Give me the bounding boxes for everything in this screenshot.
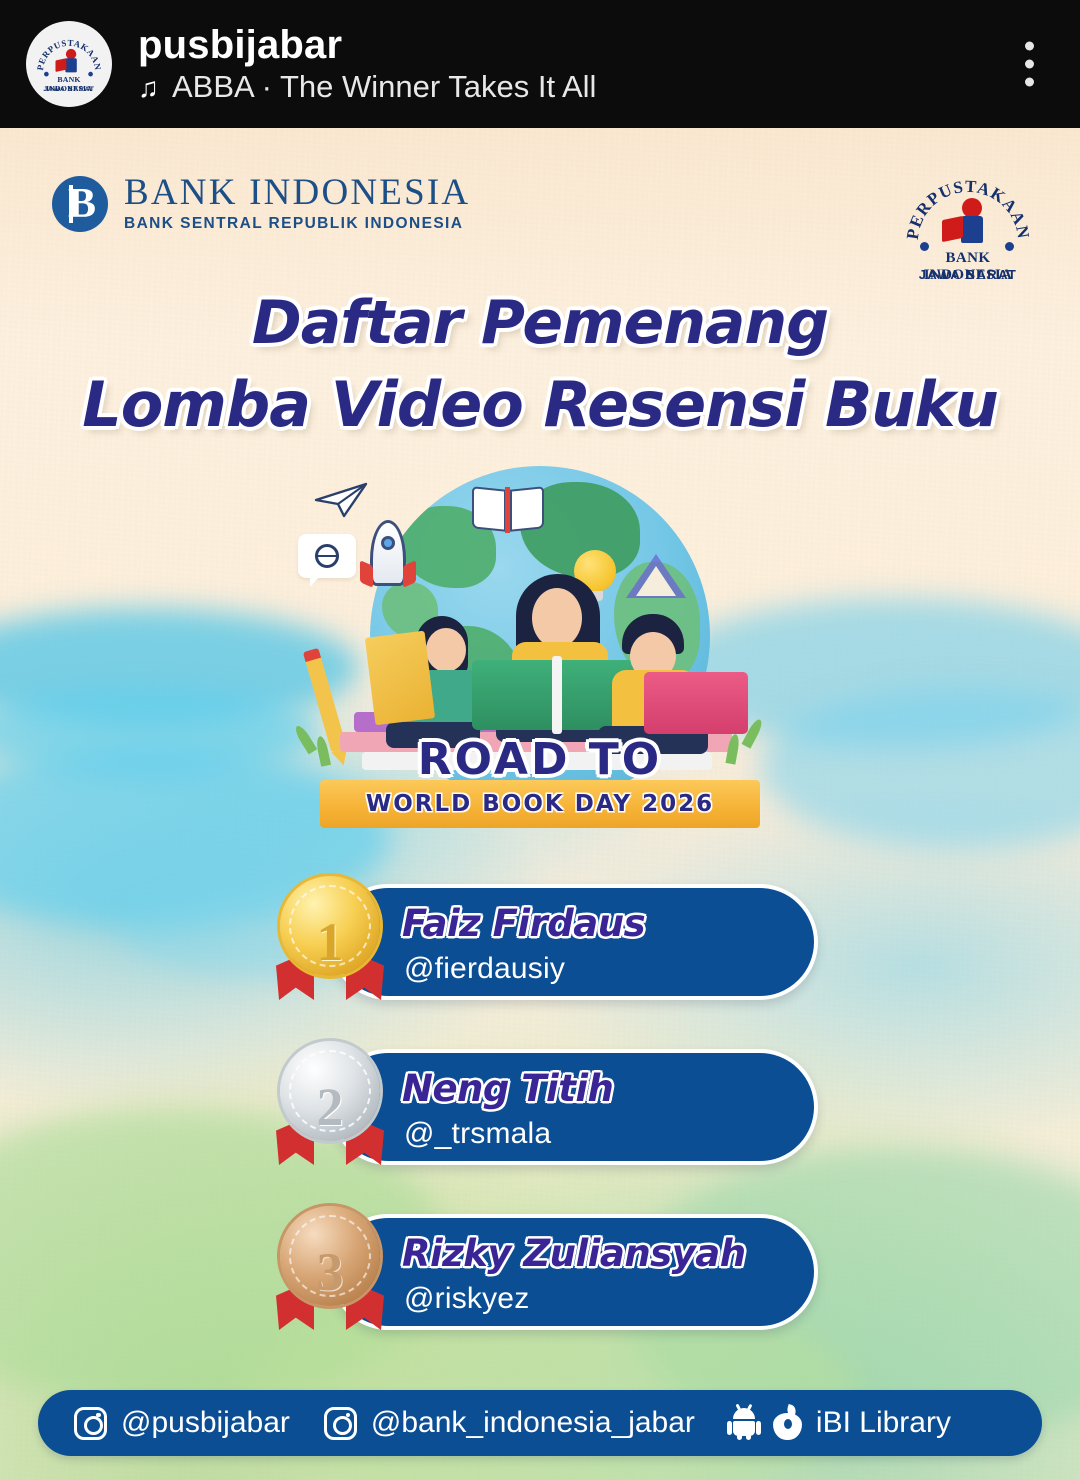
bank-indonesia-tagline: BANK SENTRAL REPUBLIK INDONESIA (124, 215, 470, 233)
bank-indonesia-wordmark: BANK INDONESIA BANK SENTRAL REPUBLIK IND… (124, 174, 470, 233)
footer-label: @pusbijabar (121, 1406, 290, 1440)
perpustakaan-logo: PERPUSTAKAAN BANK INDONESIA JAWA BARAT (904, 168, 1032, 286)
android-icon (729, 1406, 759, 1440)
instagram-reel-header: PERPUSTAKAAN BANK INDONESIA JAWA BARAT p… (0, 0, 1080, 128)
kebab-menu-icon[interactable] (1019, 36, 1040, 93)
social-footer-bar: @pusbijabar @bank_indonesia_jabar iBI Li… (38, 1390, 1042, 1456)
bank-indonesia-name: BANK INDONESIA (124, 174, 470, 211)
instagram-icon (324, 1407, 357, 1440)
rocket-icon (370, 520, 406, 586)
medal-rank: 1 (272, 870, 388, 1014)
winner-name: Rizky Zuliansyah (402, 1232, 746, 1275)
world-book-day-text: WORLD BOOK DAY 2026 (320, 780, 760, 828)
ribbon-shape: WORLD BOOK DAY 2026 (320, 780, 760, 828)
medal-gold-icon: 1 (272, 870, 388, 1014)
logo-row: BANK INDONESIA BANK SENTRAL REPUBLIK IND… (0, 150, 1080, 280)
speech-bubble-icon (298, 534, 356, 578)
road-to-banner: ROAD TO WORLD BOOK DAY 2026 (296, 734, 784, 846)
poster-title: Daftar Pemenang Lomba Video Resensi Buku (0, 280, 1080, 480)
title-line-2-text: Lomba Video Resensi Buku (82, 368, 998, 441)
avatar[interactable]: PERPUSTAKAAN BANK INDONESIA JAWA BARAT (26, 21, 112, 107)
bank-indonesia-mark-icon (52, 176, 108, 232)
title-line-1-text: Daftar Pemenang (252, 288, 828, 358)
reading-illustration: ROAD TO WORLD BOOK DAY 2026 (296, 466, 784, 846)
title-line-1: Daftar Pemenang (0, 288, 1080, 358)
username[interactable]: pusbijabar (138, 24, 596, 66)
paper-plane-icon (314, 482, 370, 518)
footer-item-pusbijabar[interactable]: @pusbijabar (74, 1406, 290, 1440)
open-book-icon (472, 488, 544, 534)
avatar-logo: PERPUSTAKAAN BANK INDONESIA JAWA BARAT (36, 33, 103, 94)
road-to-text: ROAD TO (296, 734, 784, 785)
medal-silver-icon: 2 (272, 1035, 388, 1179)
winner-name: Neng Titih (402, 1067, 613, 1110)
apple-icon (773, 1406, 802, 1440)
medal-bronze-icon: 3 (272, 1200, 388, 1344)
winner-row[interactable]: Faiz Firdaus @fierdausiy 1 (0, 870, 1080, 1035)
medal-rank: 3 (272, 1200, 388, 1344)
winner-card[interactable]: Faiz Firdaus @fierdausiy (330, 884, 818, 1000)
winner-card[interactable]: Rizky Zuliansyah @riskyez (330, 1214, 818, 1330)
audio-attribution[interactable]: ♫ ABBA · The Winner Takes It All (138, 71, 596, 104)
reader-figure (948, 198, 988, 242)
winner-handle: @fierdausiy (404, 952, 565, 986)
audio-title: ABBA · The Winner Takes It All (172, 71, 596, 104)
winner-row[interactable]: Neng Titih @_trsmala 2 (0, 1035, 1080, 1200)
perpus-line2: JAWA BARAT (36, 85, 103, 93)
winner-handle: @riskyez (404, 1282, 529, 1316)
winner-handle: @_trsmala (404, 1117, 551, 1151)
footer-label: iBI Library (816, 1406, 951, 1440)
winner-name: Faiz Firdaus (402, 902, 645, 945)
music-note-icon: ♫ (138, 73, 159, 102)
poster-image: BANK INDONESIA BANK SENTRAL REPUBLIK IND… (0, 128, 1080, 1480)
footer-label: @bank_indonesia_jabar (371, 1406, 695, 1440)
cloud-shape (0, 688, 320, 778)
title-line-2: Lomba Video Resensi Buku (0, 368, 1080, 441)
bank-indonesia-logo: BANK INDONESIA BANK SENTRAL REPUBLIK IND… (52, 174, 470, 233)
winner-list: Faiz Firdaus @fierdausiy 1 Neng Titih @_… (0, 870, 1080, 1365)
medal-rank: 2 (272, 1035, 388, 1179)
reader-figure (59, 49, 80, 72)
instagram-icon (74, 1407, 107, 1440)
footer-item-bank-indonesia-jabar[interactable]: @bank_indonesia_jabar (324, 1406, 695, 1440)
footer-item-ibi-library[interactable]: iBI Library (729, 1406, 951, 1440)
header-text-block: pusbijabar ♫ ABBA · The Winner Takes It … (138, 24, 596, 104)
winner-card[interactable]: Neng Titih @_trsmala (330, 1049, 818, 1165)
cloud-shape (760, 688, 1080, 848)
perpustakaan-logo-small: PERPUSTAKAAN BANK INDONESIA JAWA BARAT (36, 33, 103, 94)
winner-row[interactable]: Rizky Zuliansyah @riskyez 3 (0, 1200, 1080, 1365)
